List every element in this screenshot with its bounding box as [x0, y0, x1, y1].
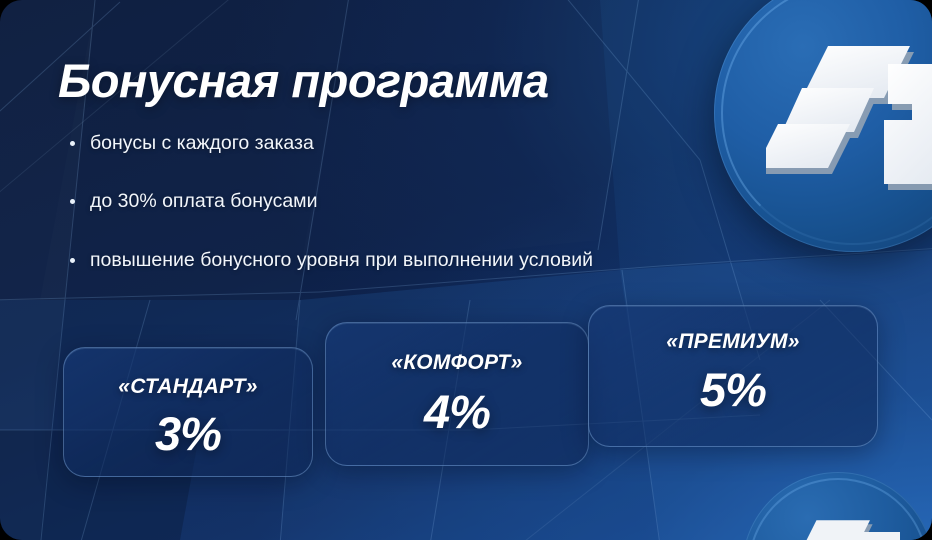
tier-name-premium: «ПРЕМИУМ»: [589, 330, 877, 354]
benefits-list: бонусы с каждого заказа до 30% оплата бо…: [62, 132, 762, 307]
tier-card-comfort: «КОМФОРТ» 4%: [325, 322, 589, 466]
tier-card-premium: «ПРЕМИУМ» 5%: [588, 305, 878, 447]
list-item: повышение бонусного уровня при выполнени…: [62, 249, 762, 272]
page-title: Бонусная программа: [58, 56, 549, 105]
benefit-text: до 30% оплата бонусами: [90, 190, 317, 212]
benefit-text: повышение бонусного уровня при выполнени…: [90, 249, 593, 271]
list-item: до 30% оплата бонусами: [62, 190, 762, 213]
tier-name-comfort: «КОМФОРТ»: [326, 351, 588, 375]
benefit-text: бонусы с каждого заказа: [90, 132, 314, 154]
tier-value-comfort: 4%: [326, 388, 588, 435]
bullet-dot-icon: [70, 141, 75, 146]
bullet-dot-icon: [70, 199, 75, 204]
tier-name-standard: «СТАНДАРТ»: [64, 375, 312, 399]
tier-card-standard: «СТАНДАРТ» 3%: [63, 347, 313, 477]
tier-value-premium: 5%: [589, 366, 877, 413]
bullet-dot-icon: [70, 258, 75, 263]
tier-value-standard: 3%: [64, 410, 312, 457]
bonus-program-banner: Бонусная программа бонусы с каждого зака…: [0, 0, 932, 540]
list-item: бонусы с каждого заказа: [62, 132, 762, 155]
